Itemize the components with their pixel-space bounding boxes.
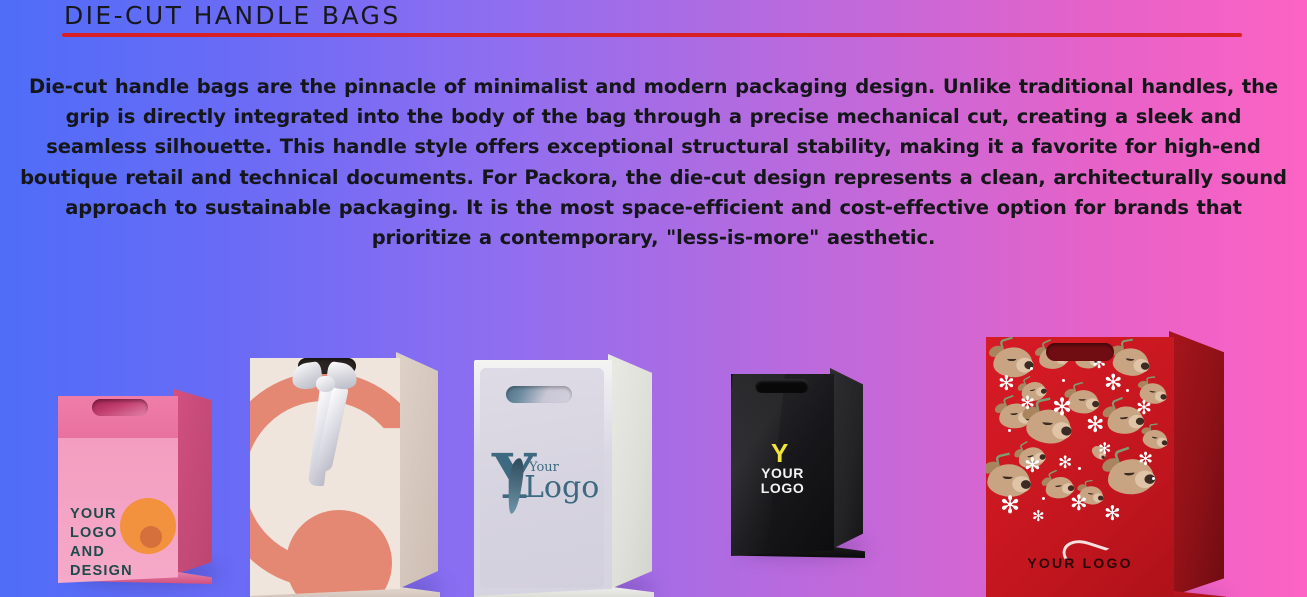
ribbon-knot [316, 376, 335, 392]
bag-side-panel [608, 354, 652, 590]
bag-brand-text: YOUR LOGO [731, 466, 834, 496]
snowflake-icon: ✻ [1000, 493, 1020, 517]
die-cut-handle-icon [1046, 343, 1114, 361]
bag-image-white-y-logo[interactable]: Y Your Logo [474, 350, 652, 597]
bag-logo-text: YOUR LOGO AND DESIGN [70, 505, 133, 581]
bag-brand-line-1: YOUR [731, 466, 834, 481]
bag-brand-line-2: LOGO [731, 481, 834, 496]
bag-image-cream-ribbon[interactable] [250, 350, 438, 597]
snowflake-icon: ✻ [1020, 395, 1035, 413]
bag-image-black-gloss[interactable]: Y YOUR LOGO [731, 365, 863, 558]
bag-logo-line-3: AND [70, 543, 133, 562]
snowflake-icon: ✻ [1032, 509, 1045, 524]
bag-image-pink-two-tone[interactable]: YOUR LOGO AND DESIGN [58, 385, 210, 585]
snowflake-icon: ✻ [1070, 493, 1088, 514]
snow-dot-icon [1030, 367, 1033, 370]
ribbon-bow-icon [294, 360, 358, 490]
snow-dot-icon [1126, 389, 1129, 392]
bag-front-panel: ✻ ✻ ✻ ✻ ✻ ✻ ✻ ✻ ✻ ✻ ✻ ✻ ✻ ✻ ✻ YOUR LOGO [986, 337, 1174, 597]
die-cut-handle-icon [506, 386, 572, 403]
snowflake-icon: ✻ [1058, 455, 1072, 472]
die-cut-handle-icon [755, 379, 809, 393]
reindeer-icon [1141, 425, 1170, 451]
snow-dot-icon [1152, 477, 1155, 480]
bag-logo-line-4: DESIGN [70, 562, 133, 581]
bag-gallery: YOUR LOGO AND DESIGN [0, 240, 1307, 597]
page-header: DIE-CUT HANDLE BAGS [0, 0, 1307, 60]
snow-dot-icon [1008, 429, 1011, 432]
bag-logo-line-1: YOUR [70, 505, 133, 524]
snowflake-icon: ✻ [1086, 415, 1104, 437]
bag-side-panel [174, 389, 212, 575]
bag-side-panel [396, 352, 438, 590]
snow-dot-icon [1042, 497, 1045, 500]
bag-front-panel: Y YOUR LOGO [731, 374, 834, 556]
snowflake-icon: ✻ [1098, 441, 1111, 457]
bag-logo-line-2: LOGO [70, 524, 133, 543]
snow-dot-icon [1078, 467, 1081, 470]
bag-logo-logo-text: Logo [524, 470, 599, 505]
bag-front-panel: Y Your Logo [474, 360, 612, 596]
snowflake-icon: ✻ [1024, 455, 1041, 475]
bag-side-panel [1169, 331, 1224, 597]
page-title: DIE-CUT HANDLE BAGS [64, 1, 401, 30]
snowflake-icon: ✻ [1104, 503, 1121, 523]
bag-brand-text: YOUR LOGO [986, 555, 1174, 571]
bag-accent-circle-inner [140, 526, 162, 548]
snowflake-icon: ✻ [998, 373, 1015, 393]
snowflake-icon: ✻ [1136, 399, 1152, 418]
bag-side-panel [830, 368, 863, 550]
title-underline-rule [62, 33, 1242, 37]
bag-logo-mark-y: Y [771, 440, 788, 466]
snowflake-icon: ✻ [1104, 373, 1122, 395]
bag-front-panel: YOUR LOGO AND DESIGN [58, 396, 178, 583]
die-cut-handle-icon [92, 399, 148, 416]
snowflake-icon: ✻ [1138, 451, 1153, 469]
description-paragraph: Die-cut handle bags are the pinnacle of … [18, 72, 1289, 253]
bag-image-red-christmas[interactable]: ✻ ✻ ✻ ✻ ✻ ✻ ✻ ✻ ✻ ✻ ✻ ✻ ✻ ✻ ✻ YOUR LOGO [986, 325, 1224, 597]
snowflake-icon: ✻ [1052, 395, 1072, 419]
snow-dot-icon [1062, 379, 1065, 382]
